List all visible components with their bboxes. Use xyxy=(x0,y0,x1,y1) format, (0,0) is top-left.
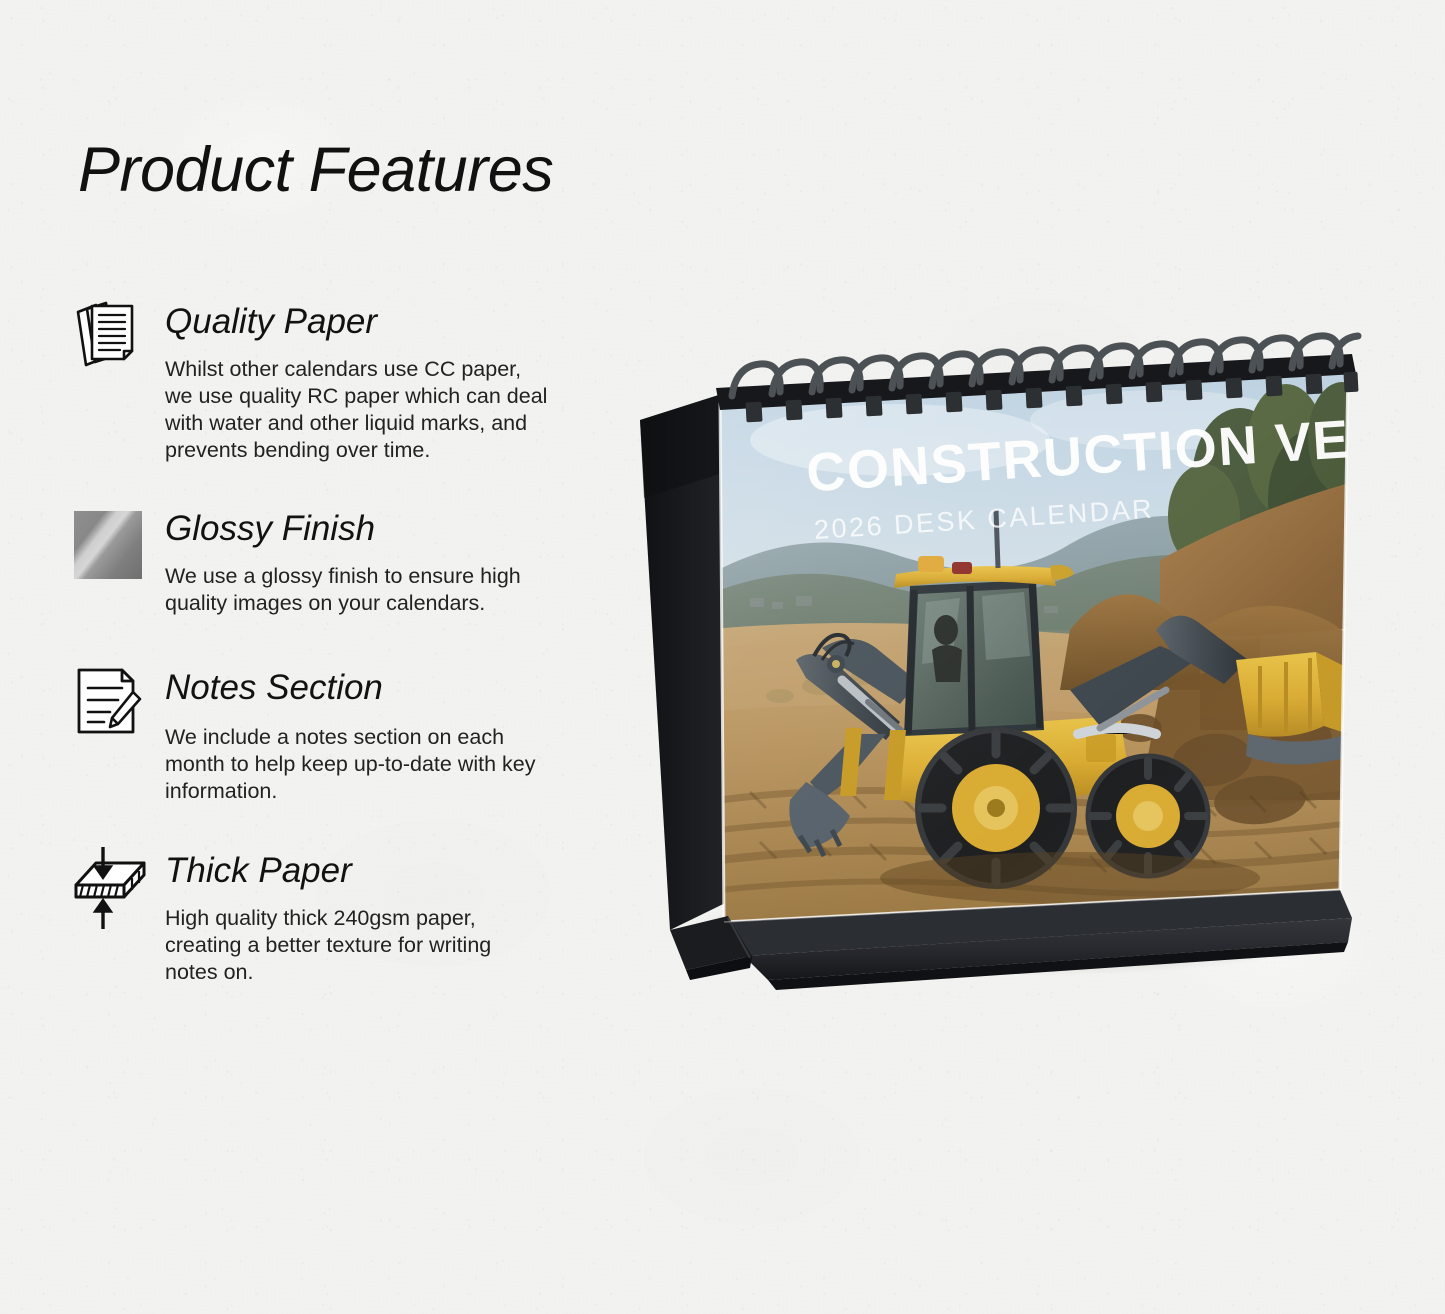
feature-heading: Notes Section xyxy=(165,668,383,708)
feature-body: Whilst other calendars use CC paper, we … xyxy=(165,356,635,464)
product-features-page: Product Features xyxy=(0,0,1445,1314)
feature-heading: Glossy Finish xyxy=(165,509,375,549)
glossy-gradient-swatch-icon xyxy=(70,505,150,585)
document-with-pencil-icon xyxy=(70,662,150,742)
features-column: Product Features xyxy=(0,0,640,1314)
gloss-swatch-shape xyxy=(74,511,142,579)
paper-thickness-slab-icon xyxy=(70,845,150,925)
calendar-cover-image: CONSTRUCTION VEHICLES 2026 DESK CALENDAR xyxy=(700,350,1400,950)
feature-body: We use a glossy finish to ensure high qu… xyxy=(165,563,635,617)
feature-heading: Quality Paper xyxy=(165,302,377,342)
feature-body: High quality thick 240gsm paper, creatin… xyxy=(165,905,635,986)
stacked-paper-sheets-icon xyxy=(70,296,150,376)
feature-body: We include a notes section on each month… xyxy=(165,724,635,805)
page-title: Product Features xyxy=(78,134,553,206)
desk-calendar-product-photo: CONSTRUCTION VEHICLES 2026 DESK CALENDAR xyxy=(600,330,1400,990)
feature-heading: Thick Paper xyxy=(165,851,352,891)
